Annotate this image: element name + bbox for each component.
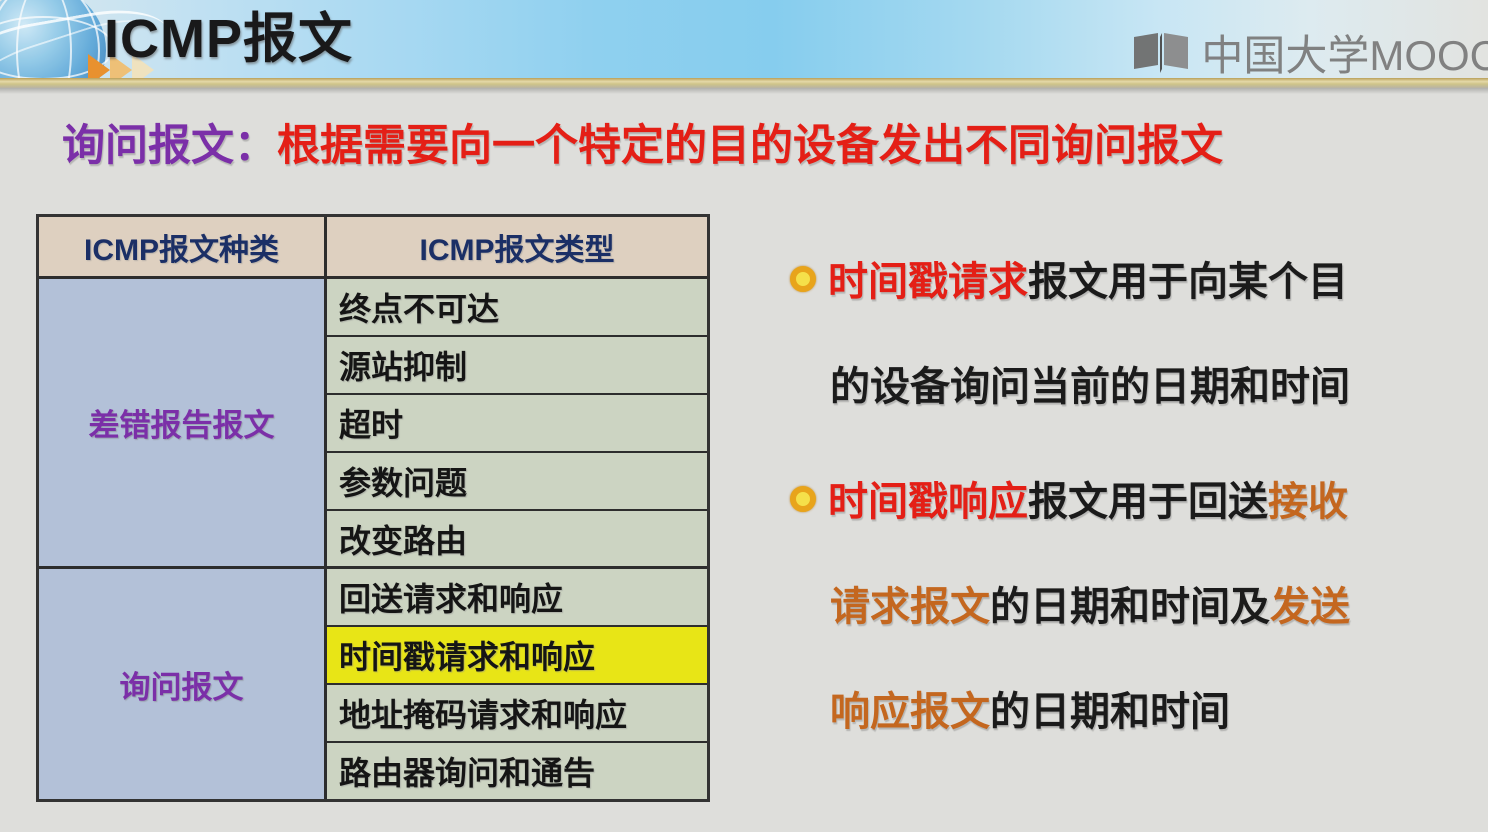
note-span: 发送 — [1270, 585, 1350, 629]
page-title: ICMP报文 — [104, 8, 353, 70]
note-span: 的日期和时间 — [990, 690, 1230, 734]
table-row: 参数问题 — [327, 453, 707, 511]
note-span: 的日期和时间及 — [990, 585, 1270, 629]
slide-header-banner: ICMP报文 中国大学MOOC — [0, 0, 1488, 78]
notes-panel: 时间戳请求报文用于向某个目 的设备询问当前的日期和时间 时间戳响应报文用于回送接… — [790, 252, 1480, 797]
type-column: 终点不可达 源站抑制 超时 参数问题 改变路由 回送请求和响应 时间戳请求和响应… — [327, 279, 707, 799]
table-row: 回送请求和响应 — [327, 569, 707, 627]
subtitle: 询问报文：根据需要向一个特定的目的设备发出不同询问报文 — [62, 118, 1223, 174]
table-header-type: ICMP报文类型 — [327, 217, 707, 279]
note-span: 请求报文 — [830, 585, 990, 629]
table-header-row: ICMP报文种类 ICMP报文类型 — [39, 217, 707, 279]
banner-gold-divider — [0, 78, 1488, 88]
ring-bullet-icon — [790, 266, 816, 292]
note-line: 时间戳响应报文用于回送接收 — [790, 472, 1480, 577]
note-span: 响应报文 — [830, 690, 990, 734]
note-line: 响应报文的日期和时间 — [790, 682, 1480, 787]
table-row: 改变路由 — [327, 511, 707, 570]
subtitle-text: 根据需要向一个特定的目的设备发出不同询问报文 — [277, 122, 1223, 170]
note-span: 接收 — [1268, 480, 1348, 524]
category-column: 差错报告报文 询问报文 — [39, 279, 327, 799]
note-line: 时间戳请求报文用于向某个目 — [790, 252, 1480, 357]
table-header-category: ICMP报文种类 — [39, 217, 327, 279]
table-row: 终点不可达 — [327, 279, 707, 337]
mooc-logo: 中国大学MOOC — [1132, 22, 1488, 78]
book-icon — [1132, 31, 1192, 75]
category-cell-error: 差错报告报文 — [39, 279, 324, 569]
note-block-timestamp-request: 时间戳请求报文用于向某个目 的设备询问当前的日期和时间 — [790, 252, 1480, 462]
banner-shadow — [0, 88, 1488, 94]
category-cell-query: 询问报文 — [39, 569, 324, 799]
icmp-message-table: ICMP报文种类 ICMP报文类型 差错报告报文 询问报文 终点不可达 源站抑制… — [36, 214, 710, 802]
mooc-logo-label: 中国大学MOOC — [1201, 22, 1488, 78]
ring-bullet-icon — [790, 486, 816, 512]
table-row: 超时 — [327, 395, 707, 453]
table-row-highlighted: 时间戳请求和响应 — [327, 627, 707, 685]
subtitle-label: 询问报文： — [62, 122, 277, 170]
table-row: 源站抑制 — [327, 337, 707, 395]
note-span: 的设备询问当前的日期和时间 — [830, 357, 1350, 417]
note-block-timestamp-reply: 时间戳响应报文用于回送接收 请求报文的日期和时间及发送 响应报文的日期和时间 — [790, 472, 1480, 787]
note-line: 的设备询问当前的日期和时间 — [790, 357, 1480, 462]
note-span: 报文用于回送 — [1028, 480, 1268, 524]
table-body: 差错报告报文 询问报文 终点不可达 源站抑制 超时 参数问题 改变路由 回送请求… — [39, 279, 707, 799]
note-span: 报文用于向某个目 — [1028, 260, 1348, 304]
table-row: 地址掩码请求和响应 — [327, 685, 707, 743]
note-line: 请求报文的日期和时间及发送 — [790, 577, 1480, 682]
note-span: 时间戳响应 — [828, 480, 1028, 524]
note-span: 时间戳请求 — [828, 260, 1028, 304]
table-row: 路由器询问和通告 — [327, 743, 707, 799]
